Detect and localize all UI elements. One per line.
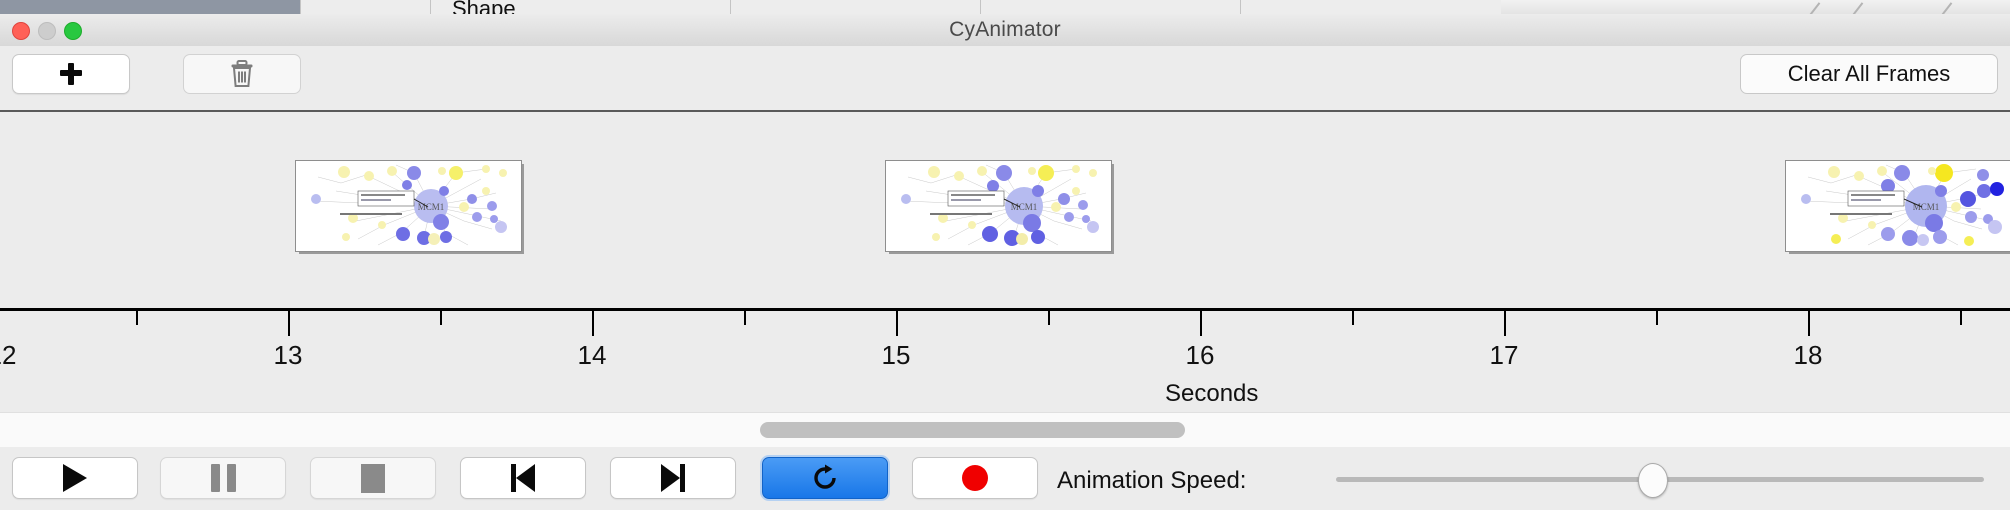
axis-tick-label: 12	[0, 340, 16, 371]
frame-thumbnail: MCM1	[1785, 160, 2010, 252]
clear-all-frames-button[interactable]: Clear All Frames	[1740, 54, 1998, 94]
axis-title: Seconds	[1165, 380, 1258, 408]
slider-knob[interactable]	[1638, 463, 1668, 498]
axis-minor-tick	[1352, 311, 1354, 325]
frame-thumbnail: MCM1	[885, 160, 1112, 252]
axis-tick-label: 15	[882, 340, 911, 371]
axis-line	[0, 308, 2010, 311]
maximize-icon[interactable]	[64, 22, 82, 40]
skip-to-end-icon	[659, 464, 687, 492]
frames-layer: MCM1	[0, 112, 2010, 307]
axis-minor-tick	[1960, 311, 1962, 325]
play-icon	[63, 464, 87, 492]
minimize-icon[interactable]	[38, 22, 56, 40]
timeline-frame[interactable]: MCM1	[295, 160, 520, 250]
toolbar	[0, 46, 2010, 112]
playback-controls: Animation Speed:	[0, 447, 2010, 510]
svg-text:MCM1: MCM1	[1913, 202, 1940, 212]
add-frame-button[interactable]	[12, 54, 130, 94]
record-icon	[962, 465, 988, 491]
network-thumbnail-svg: MCM1	[886, 161, 1111, 251]
svg-text:MCM1: MCM1	[1011, 202, 1038, 212]
traffic-lights	[12, 22, 82, 40]
axis-major-tick	[896, 311, 898, 336]
timeline-axis: 12 13 14 15 16 17 18 Seconds	[0, 308, 2010, 412]
title-bar: CyAnimator	[0, 14, 2010, 47]
axis-tick-label: 17	[1490, 340, 1519, 371]
timeline-frame[interactable]: MCM1	[885, 160, 1110, 250]
stop-button[interactable]	[310, 457, 436, 499]
axis-major-tick	[592, 311, 594, 336]
delete-frame-button[interactable]	[183, 54, 301, 94]
axis-tick-label: 13	[274, 340, 303, 371]
plus-icon	[59, 62, 83, 86]
network-thumbnail-svg: MCM1	[296, 161, 521, 251]
cyanimator-window: Shape CyAnimator Clear All Frames	[0, 0, 2010, 510]
axis-major-tick	[1504, 311, 1506, 336]
axis-tick-label: 18	[1794, 340, 1823, 371]
axis-minor-tick	[1656, 311, 1658, 325]
axis-minor-tick	[1048, 311, 1050, 325]
skip-to-start-icon	[509, 464, 537, 492]
stop-icon	[361, 464, 385, 493]
animation-speed-label: Animation Speed:	[1057, 467, 1246, 495]
record-button[interactable]	[912, 457, 1038, 499]
pause-icon	[211, 464, 236, 492]
network-thumbnail-svg: MCM1	[1786, 161, 2010, 251]
frame-thumbnail: MCM1	[295, 160, 522, 252]
scrollbar-thumb[interactable]	[760, 422, 1185, 438]
axis-major-tick	[1200, 311, 1202, 336]
pause-button[interactable]	[160, 457, 286, 499]
loop-button[interactable]	[762, 457, 888, 499]
background-dark-header	[0, 0, 300, 14]
axis-major-tick	[288, 311, 290, 336]
close-icon[interactable]	[12, 22, 30, 40]
axis-major-tick	[1808, 311, 1810, 336]
window-title: CyAnimator	[949, 18, 1061, 42]
axis-minor-tick	[744, 311, 746, 325]
timeline-scrollbar[interactable]	[0, 412, 2010, 448]
timeline-frame[interactable]: MCM1	[1785, 160, 2010, 250]
axis-tick-label: 16	[1186, 340, 1215, 371]
trash-icon	[229, 59, 255, 89]
axis-minor-tick	[440, 311, 442, 325]
animation-speed-slider[interactable]	[1336, 477, 1984, 482]
skip-to-end-button[interactable]	[610, 457, 736, 499]
skip-to-start-button[interactable]	[460, 457, 586, 499]
loop-icon	[810, 463, 840, 493]
axis-minor-tick	[136, 311, 138, 325]
timeline-panel[interactable]: MCM1	[0, 112, 2010, 412]
play-button[interactable]	[12, 457, 138, 499]
axis-tick-label: 14	[578, 340, 607, 371]
